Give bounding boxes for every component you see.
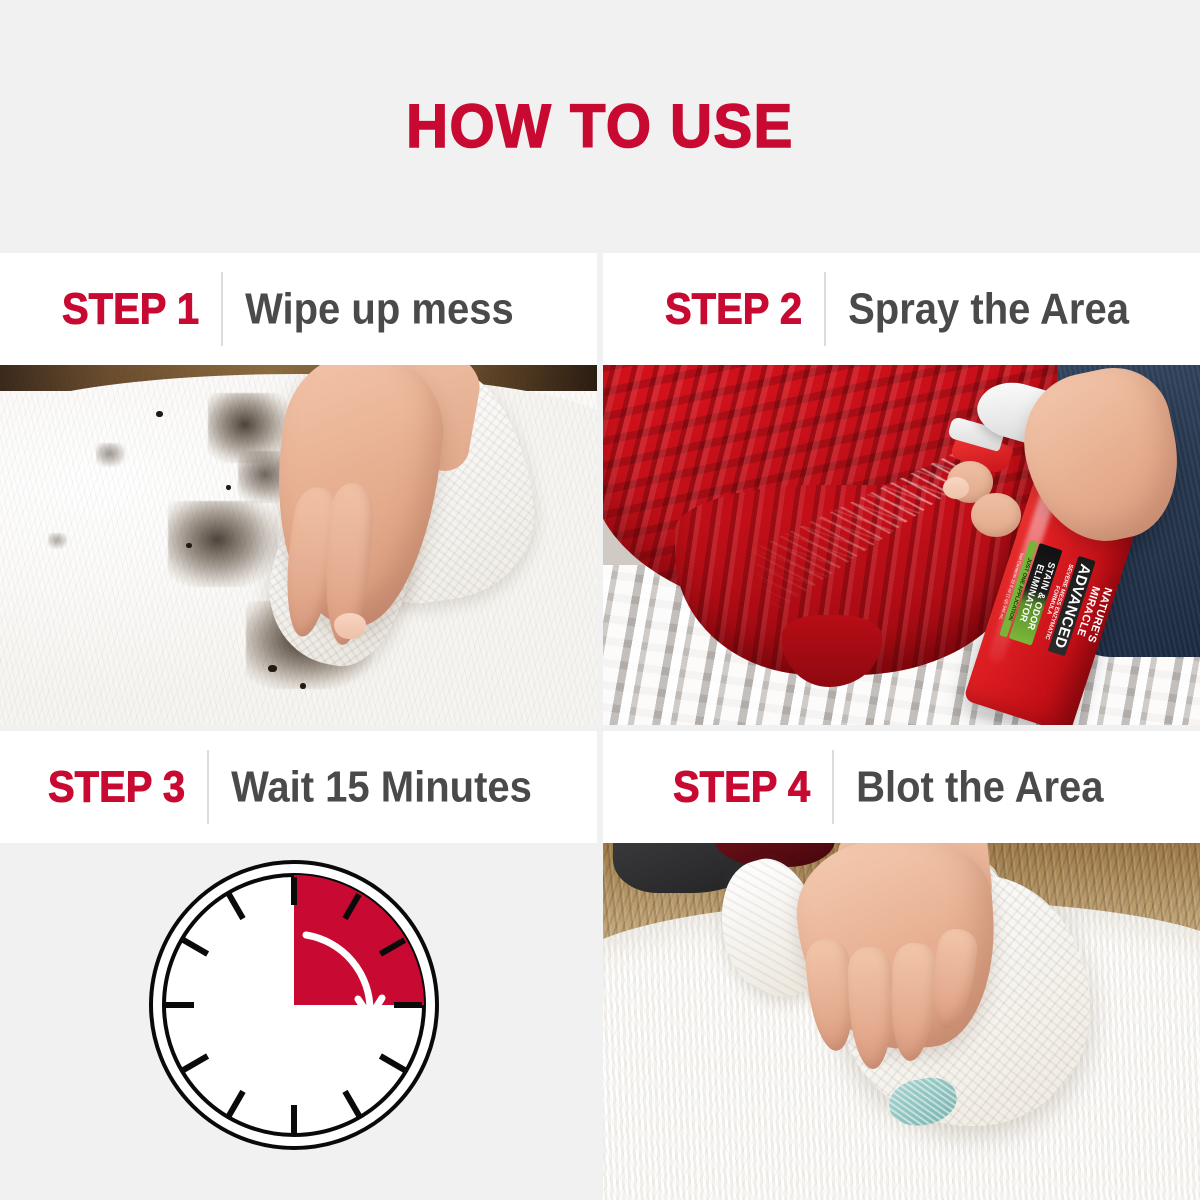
steps-grid: STEP 1 Wipe up mess	[0, 253, 1200, 1200]
page-title: HOW TO USE	[406, 91, 794, 162]
step-header-3: STEP 3 Wait 15 Minutes	[0, 731, 597, 843]
dirt-speck	[300, 683, 306, 689]
clock-icon	[148, 859, 440, 1156]
step-number-4: STEP 4	[673, 762, 810, 812]
dirt-patch	[48, 533, 68, 549]
fingernail	[943, 477, 969, 499]
finger	[971, 493, 1021, 537]
step-header-4: STEP 4 Blot the Area	[603, 731, 1200, 843]
step-instruction-4: Blot the Area	[856, 762, 1103, 812]
clock-svg	[148, 859, 440, 1151]
step-image-3	[0, 843, 597, 1200]
step-divider-3	[207, 750, 209, 824]
step-image-2: NATURE'S MIRACLE ADVANCED SEVERE MESS EN…	[603, 365, 1200, 725]
step-divider-2	[824, 272, 826, 346]
dirt-speck	[226, 485, 231, 490]
title-banner: HOW TO USE	[0, 0, 1200, 253]
step-image-4	[603, 843, 1200, 1200]
step-number-2: STEP 2	[665, 284, 802, 334]
step-divider-1	[221, 272, 223, 346]
step-panel-2: STEP 2 Spray the Area NATURE'S MIRACLE A…	[603, 253, 1200, 725]
step-panel-4: STEP 4 Blot the Area	[603, 731, 1200, 1200]
fingernail	[334, 613, 366, 639]
step-header-2: STEP 2 Spray the Area	[603, 253, 1200, 365]
dirt-patch	[96, 443, 126, 467]
step-instruction-3: Wait 15 Minutes	[231, 762, 532, 812]
dirt-speck	[268, 665, 277, 672]
step-image-1	[0, 365, 597, 725]
step-number-1: STEP 1	[62, 284, 199, 334]
step-panel-3: STEP 3 Wait 15 Minutes	[0, 731, 597, 1200]
dirt-speck	[186, 543, 192, 548]
step-header-1: STEP 1 Wipe up mess	[0, 253, 597, 365]
step-panel-1: STEP 1 Wipe up mess	[0, 253, 597, 725]
step-divider-4	[832, 750, 834, 824]
step-instruction-2: Spray the Area	[848, 284, 1129, 334]
dirt-patch	[168, 501, 278, 587]
step-number-3: STEP 3	[48, 762, 185, 812]
step-instruction-1: Wipe up mess	[245, 284, 514, 334]
dirt-speck	[156, 411, 163, 417]
